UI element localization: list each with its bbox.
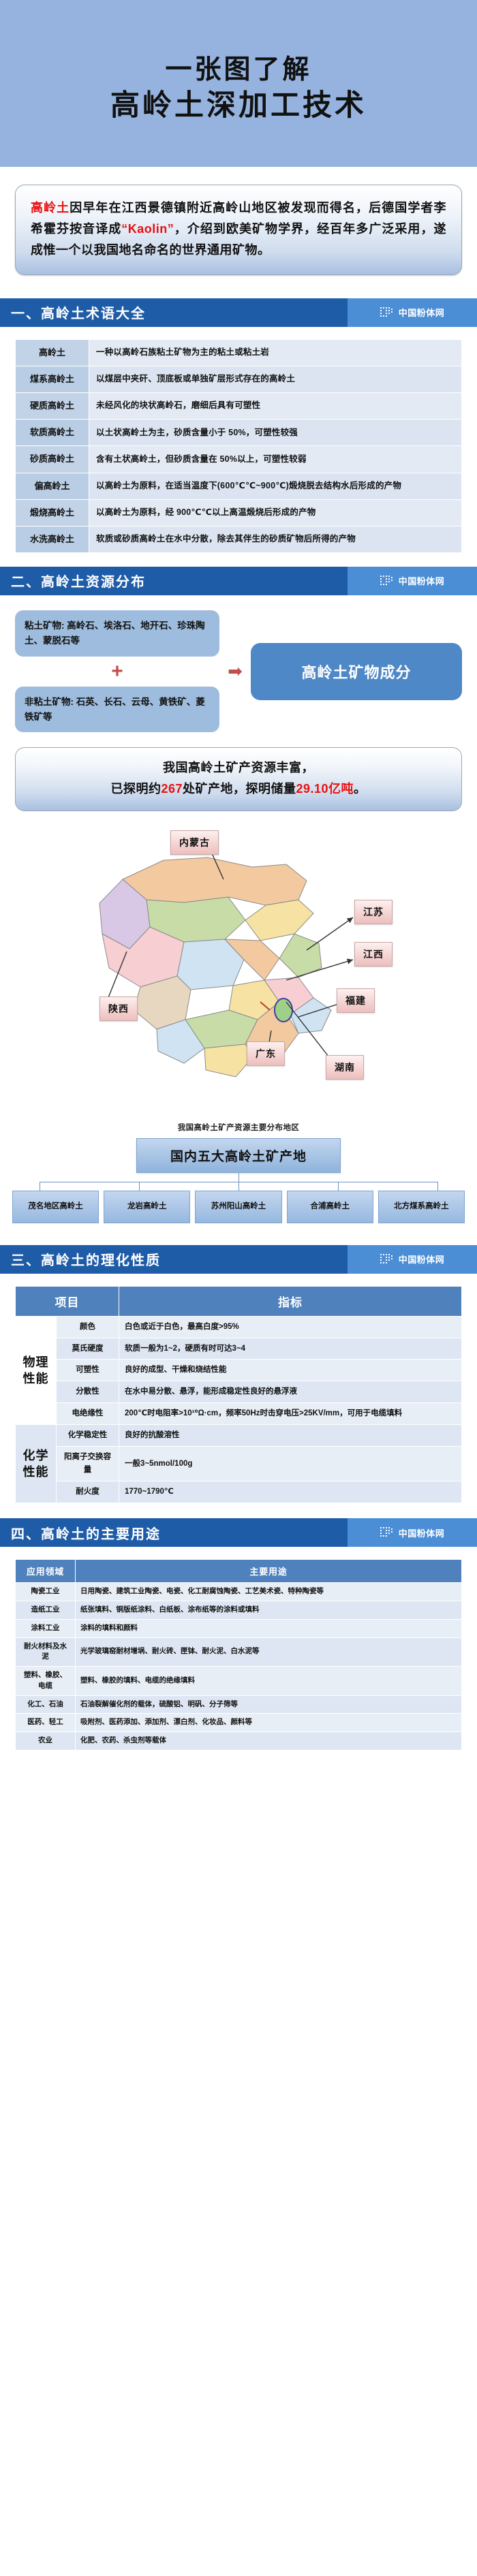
app-field: 耐火材料及水泥: [16, 1637, 76, 1667]
org-leaf-maoming: 茂名地区高岭土: [12, 1191, 99, 1223]
map-label-guangdong: 广东: [247, 1041, 285, 1066]
properties-section: 项目 指标 物理性能 颜色 白色或近于白色，最高白度>95% 莫氏硬度 软质一般…: [0, 1274, 477, 1509]
intro-keyword-kaolin: 高岭土: [31, 201, 70, 215]
term-desc: 以土状高岭土为主，砂质含量小于 50%，可塑性较强: [89, 420, 462, 446]
table-header-row: 应用领域 主要用途: [16, 1560, 462, 1583]
org-leaf-northern-coal: 北方煤系高岭土: [378, 1191, 465, 1223]
plus-icon: +: [15, 661, 219, 682]
infographic-page: 一张图了解 高岭土深加工技术 高岭土因早年在江西景德镇附近高岭山地区被发现而得名…: [0, 0, 477, 1768]
term-desc: 含有土状高岭土，但砂质含量在 50%以上，可塑性较弱: [89, 446, 462, 473]
table-row: 陶瓷工业日用陶瓷、建筑工业陶瓷、电瓷、化工耐腐蚀陶瓷、工艺美术瓷、特种陶瓷等: [16, 1583, 462, 1601]
brand-name-3: 中国粉体网: [399, 1253, 445, 1266]
arrow-right-icon: ➡: [224, 661, 247, 682]
properties-table-head: 项目 指标: [16, 1286, 462, 1316]
col-header-item: 项目: [16, 1286, 119, 1316]
applications-section: 应用领域 主要用途 陶瓷工业日用陶瓷、建筑工业陶瓷、电瓷、化工耐腐蚀陶瓷、工艺美…: [0, 1547, 477, 1768]
app-use: 石油裂解催化剂的载体，硫酸铝、明矾、分子筛等: [76, 1695, 462, 1714]
col-header-index: 指标: [119, 1286, 462, 1316]
term-desc: 以高岭土为原料，在适当温度下(600℃℃~900℃)煅烧脱去结构水后形成的产物: [89, 473, 462, 499]
term-name: 砂质高岭土: [16, 446, 89, 473]
table-row: 阳离子交换容量 一般3~5nmol/100g: [16, 1447, 462, 1481]
table-row: 可塑性 良好的成型、干燥和烧结性能: [16, 1360, 462, 1381]
brand-name-1: 中国粉体网: [399, 306, 445, 319]
section-title-3: 三、高岭土的理化性质: [0, 1245, 348, 1274]
applications-table: 应用领域 主要用途 陶瓷工业日用陶瓷、建筑工业陶瓷、电瓷、化工耐腐蚀陶瓷、工艺美…: [15, 1559, 462, 1750]
org-tick: [139, 1182, 140, 1191]
term-name: 软质高岭土: [16, 420, 89, 446]
term-desc: 一种以高岭石族粘土矿物为主的粘土或粘土岩: [89, 339, 462, 366]
table-row: 高岭土一种以高岭石族粘土矿物为主的粘土或粘土岩: [16, 339, 462, 366]
brand-badge-3: 中国粉体网: [348, 1245, 477, 1274]
prop-item: 化学稳定性: [57, 1425, 119, 1447]
hero-title-line-2: 高岭土深加工技术: [0, 87, 477, 125]
map-label-jiangsu: 江苏: [354, 900, 393, 924]
composition-inputs: 粘土矿物: 高岭石、埃洛石、地开石、珍珠陶土、蒙脱石等 + 非粘土矿物: 石英、…: [15, 610, 219, 732]
intro-box: 高岭土因早年在江西景德镇附近高岭山地区被发现而得名，后德国学者李希霍芬按音译成“…: [15, 185, 462, 275]
table-row: 偏高岭土以高岭土为原料，在适当温度下(600℃℃~900℃)煅烧脱去结构水后形成…: [16, 473, 462, 499]
map-label-neimenggu: 内蒙古: [170, 830, 219, 855]
section-bar-1: 一、高岭土术语大全 中国粉体网: [0, 298, 477, 327]
col-header-use: 主要用途: [76, 1560, 462, 1583]
app-use: 吸附剂、医药添加、添加剂、漂白剂、化妆品、颜料等: [76, 1714, 462, 1732]
table-row: 煅烧高岭土以高岭土为原料，经 900℃℃以上高温煅烧后形成的产物: [16, 499, 462, 526]
table-row: 涂料工业涂料的填料和颜料: [16, 1619, 462, 1637]
org-tick: [238, 1182, 239, 1191]
table-row: 化学性能 化学稳定性 良好的抗酸溶性: [16, 1425, 462, 1447]
map-label-jiangxi: 江西: [354, 942, 393, 967]
term-desc: 未经风化的块状高岭石，磨细后具有可塑性: [89, 393, 462, 420]
org-leaf-suzhou: 苏州阳山高岭土: [195, 1191, 281, 1223]
properties-table-body: 物理性能 颜色 白色或近于白色，最高白度>95% 莫氏硬度 软质一般为1~2，硬…: [16, 1316, 462, 1503]
table-row: 农业化肥、农药、杀虫剂等载体: [16, 1732, 462, 1750]
applications-table-head: 应用领域 主要用途: [16, 1560, 462, 1583]
intro-keyword-kaolin-en: “Kaolin”: [121, 222, 174, 236]
app-field: 医药、轻工: [16, 1714, 76, 1732]
app-field: 化工、石油: [16, 1695, 76, 1714]
reserve-tonnage: 29.10亿吨: [296, 782, 354, 796]
map-label-hunan: 湖南: [326, 1055, 364, 1080]
prop-item: 莫氏硬度: [57, 1338, 119, 1360]
prop-item: 分散性: [57, 1381, 119, 1403]
table-row: 塑料、橡胶、电缆塑料、橡胶的填料、电缆的绝缘填料: [16, 1667, 462, 1696]
org-tick: [40, 1182, 40, 1191]
table-row: 耐火度 1770~1790℃: [16, 1481, 462, 1503]
table-header-row: 项目 指标: [16, 1286, 462, 1316]
table-row: 软质高岭土以土状高岭土为主，砂质含量小于 50%，可塑性较强: [16, 420, 462, 446]
table-row: 造纸工业纸张填料、铜版纸涂料、白纸板、涂布纸等的涂料或填料: [16, 1601, 462, 1620]
intro-section: 高岭土因早年在江西景德镇附近高岭山地区被发现而得名，后德国学者李希霍芬按音译成“…: [0, 167, 477, 289]
properties-table: 项目 指标 物理性能 颜色 白色或近于白色，最高白度>95% 莫氏硬度 软质一般…: [15, 1286, 462, 1504]
prop-item: 可塑性: [57, 1360, 119, 1381]
org-leaf-longyan: 龙岩高岭土: [104, 1191, 190, 1223]
app-use: 涂料的填料和颜料: [76, 1619, 462, 1637]
map-caption: 我国高岭土矿产资源主要分布地区: [0, 1122, 477, 1133]
app-field: 陶瓷工业: [16, 1583, 76, 1601]
prop-value: 200℃时电阻率>10¹⁰Ω·cm，频率50Hz时击穿电压>25KV/mm，可用…: [119, 1403, 462, 1425]
app-use: 塑料、橡胶的填料、电缆的绝缘填料: [76, 1667, 462, 1696]
org-leaf-hepu: 合浦高岭土: [287, 1191, 373, 1223]
hero-title-line-1: 一张图了解: [0, 53, 477, 87]
prop-value: 在水中易分散、悬浮，能形成稳定性良好的悬浮液: [119, 1381, 462, 1403]
reserve-line-2: 已探明约267处矿产地，探明储量29.10亿吨。: [25, 779, 452, 800]
production-bases-chart: 国内五大高岭土矿产地 茂名地区高岭土 龙岩高岭土 苏州阳山高岭土 合浦高岭土 北…: [0, 1138, 477, 1236]
app-field: 塑料、橡胶、电缆: [16, 1667, 76, 1696]
composition-flow: 粘土矿物: 高岭石、埃洛石、地开石、珍珠陶土、蒙脱石等 + 非粘土矿物: 石英、…: [0, 595, 477, 735]
table-row: 莫氏硬度 软质一般为1~2，硬质有时可达3~4: [16, 1338, 462, 1360]
clay-minerals-box: 粘土矿物: 高岭石、埃洛石、地开石、珍珠陶土、蒙脱石等: [15, 610, 219, 657]
logo-icon: [380, 1253, 395, 1266]
app-use: 光学玻璃窑耐材增埚、耐火砖、匣钵、耐火泥、白水泥等: [76, 1637, 462, 1667]
table-row: 硬质高岭土未经风化的块状高岭石，磨细后具有可塑性: [16, 393, 462, 420]
logo-icon: [380, 307, 395, 319]
table-row: 医药、轻工吸附剂、医药添加、添加剂、漂白剂、化妆品、颜料等: [16, 1714, 462, 1732]
china-map-section: 内蒙古 江苏 江西 陕西 福建 广东 湖南 我国高岭土矿产资源主要分布地区: [0, 818, 477, 1138]
term-desc: 以高岭土为原料，经 900℃℃以上高温煅烧后形成的产物: [89, 499, 462, 526]
prop-value: 软质一般为1~2，硬质有时可达3~4: [119, 1338, 462, 1360]
section-title-4: 四、高岭土的主要用途: [0, 1518, 348, 1547]
brand-badge-2: 中国粉体网: [348, 567, 477, 595]
term-name: 高岭土: [16, 339, 89, 366]
term-name: 煤系高岭土: [16, 366, 89, 392]
prop-value: 良好的成型、干燥和烧结性能: [119, 1360, 462, 1381]
org-leaf-row: 茂名地区高岭土 龙岩高岭土 苏州阳山高岭土 合浦高岭土 北方煤系高岭土: [12, 1191, 465, 1223]
term-name: 水洗高岭土: [16, 526, 89, 552]
brand-badge-4: 中国粉体网: [348, 1518, 477, 1547]
logo-icon: [380, 1526, 395, 1539]
app-field: 涂料工业: [16, 1619, 76, 1637]
table-row: 分散性 在水中易分散、悬浮，能形成稳定性良好的悬浮液: [16, 1381, 462, 1403]
section-bar-4: 四、高岭土的主要用途 中国粉体网: [0, 1518, 477, 1547]
table-row: 物理性能 颜色 白色或近于白色，最高白度>95%: [16, 1316, 462, 1338]
prop-item: 耐火度: [57, 1481, 119, 1503]
col-header-field: 应用领域: [16, 1560, 76, 1583]
map-label-shaanxi: 陕西: [99, 996, 138, 1021]
prop-item: 阳离子交换容量: [57, 1447, 119, 1481]
table-row: 化工、石油石油裂解催化剂的载体，硫酸铝、明矾、分子筛等: [16, 1695, 462, 1714]
app-use: 日用陶瓷、建筑工业陶瓷、电瓷、化工耐腐蚀陶瓷、工艺美术瓷、特种陶瓷等: [76, 1583, 462, 1601]
term-desc: 以煤层中夹矸、顶底板或单独矿层形式存在的高岭土: [89, 366, 462, 392]
logo-icon: [380, 575, 395, 587]
map-label-fujian: 福建: [337, 988, 375, 1013]
section-bar-2: 二、高岭土资源分布 中国粉体网: [0, 567, 477, 595]
reserve-text-a: 已探明约: [110, 782, 161, 796]
term-name: 偏高岭土: [16, 473, 89, 499]
app-use: 纸张填料、铜版纸涂料、白纸板、涂布纸等的涂料或填料: [76, 1601, 462, 1620]
app-field: 造纸工业: [16, 1601, 76, 1620]
table-row: 砂质高岭土含有土状高岭土，但砂质含量在 50%以上，可塑性较弱: [16, 446, 462, 473]
table-row: 耐火材料及水泥光学玻璃窑耐材增埚、耐火砖、匣钵、耐火泥、白水泥等: [16, 1637, 462, 1667]
composition-output: 高岭土矿物成分: [251, 643, 462, 700]
term-desc: 软质或砂质高岭土在水中分散，除去其伴生的砂质矿物后所得的产物: [89, 526, 462, 552]
prop-item: 电绝缘性: [57, 1403, 119, 1425]
composition-result-box: 高岭土矿物成分: [251, 643, 462, 700]
group-label-physical: 物理性能: [16, 1316, 57, 1425]
term-name: 硬质高岭土: [16, 393, 89, 420]
group-label-chemical: 化学性能: [16, 1425, 57, 1503]
org-tick: [338, 1182, 339, 1191]
brand-name-4: 中国粉体网: [399, 1526, 445, 1539]
prop-value: 1770~1790℃: [119, 1481, 462, 1503]
reserve-section: 我国高岭土矿产资源丰富， 已探明约267处矿产地，探明储量29.10亿吨。: [0, 735, 477, 817]
hero-banner: 一张图了解 高岭土深加工技术: [0, 0, 477, 167]
reserve-text-c: 。: [354, 782, 367, 796]
org-vline: [238, 1173, 239, 1182]
reserve-site-count: 267: [161, 782, 183, 796]
map-highlight-marker: [275, 999, 292, 1022]
reserve-text-b: 处矿产地，探明储量: [183, 782, 296, 796]
intro-paragraph: 高岭土因早年在江西景德镇附近高岭山地区被发现而得名，后德国学者李希霍芬按音译成“…: [31, 198, 446, 261]
terminology-table-body: 高岭土一种以高岭石族粘土矿物为主的粘土或粘土岩 煤系高岭土以煤层中夹矸、顶底板或…: [16, 339, 462, 552]
terminology-section: 高岭土一种以高岭石族粘土矿物为主的粘土或粘土岩 煤系高岭土以煤层中夹矸、顶底板或…: [0, 327, 477, 557]
app-field: 农业: [16, 1732, 76, 1750]
table-row: 电绝缘性 200℃时电阻率>10¹⁰Ω·cm，频率50Hz时击穿电压>25KV/…: [16, 1403, 462, 1425]
app-use: 化肥、农药、杀虫剂等载体: [76, 1732, 462, 1750]
table-row: 煤系高岭土以煤层中夹矸、顶底板或单独矿层形式存在的高岭土: [16, 366, 462, 392]
reserve-callout-box: 我国高岭土矿产资源丰富， 已探明约267处矿产地，探明储量29.10亿吨。: [15, 747, 462, 811]
org-root-node: 国内五大高岭土矿产地: [136, 1138, 341, 1173]
prop-item: 颜色: [57, 1316, 119, 1338]
reserve-line-1: 我国高岭土矿产资源丰富，: [25, 757, 452, 779]
section-title-1: 一、高岭土术语大全: [0, 298, 348, 327]
term-name: 煅烧高岭土: [16, 499, 89, 526]
prop-value: 白色或近于白色，最高白度>95%: [119, 1316, 462, 1338]
brand-name-2: 中国粉体网: [399, 574, 445, 587]
section-title-2: 二、高岭土资源分布: [0, 567, 348, 595]
nonclay-minerals-box: 非粘土矿物: 石英、长石、云母、黄铁矿、菱铁矿等: [15, 687, 219, 733]
section-bar-3: 三、高岭土的理化性质 中国粉体网: [0, 1245, 477, 1274]
org-tick: [437, 1182, 438, 1191]
applications-table-body: 陶瓷工业日用陶瓷、建筑工业陶瓷、电瓷、化工耐腐蚀陶瓷、工艺美术瓷、特种陶瓷等 造…: [16, 1583, 462, 1750]
prop-value: 良好的抗酸溶性: [119, 1425, 462, 1447]
terminology-table: 高岭土一种以高岭石族粘土矿物为主的粘土或粘土岩 煤系高岭土以煤层中夹矸、顶底板或…: [15, 339, 462, 553]
brand-badge-1: 中国粉体网: [348, 298, 477, 327]
table-row: 水洗高岭土软质或砂质高岭土在水中分散，除去其伴生的砂质矿物后所得的产物: [16, 526, 462, 552]
prop-value: 一般3~5nmol/100g: [119, 1447, 462, 1481]
org-connector: [12, 1173, 465, 1191]
